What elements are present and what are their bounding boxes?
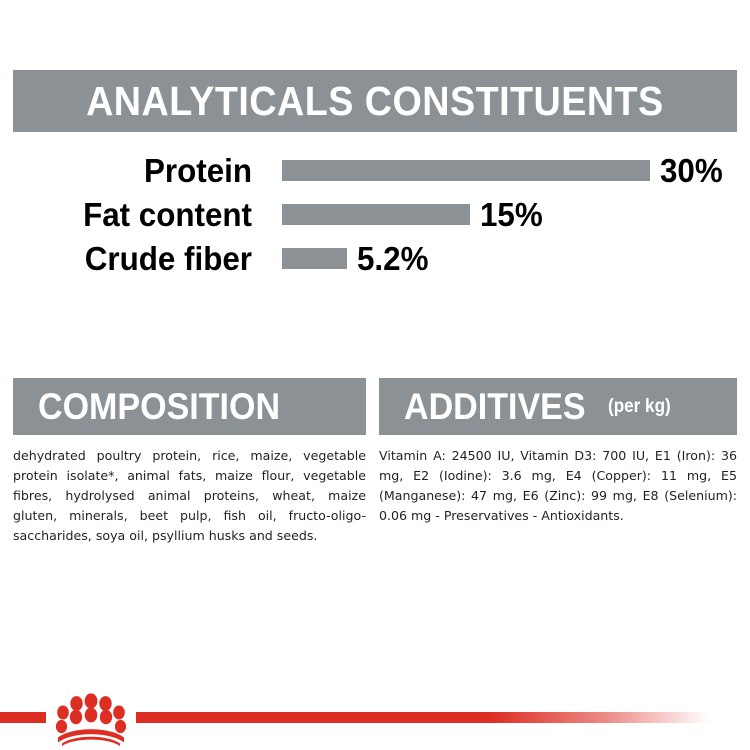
footer-rule-left	[0, 712, 46, 723]
banner-title: ANALYTICALS CONSTITUENTS	[86, 81, 664, 122]
chart-value-protein: 30%	[660, 154, 723, 187]
additives-header-unit: (per kg)	[608, 397, 671, 416]
composition-header-title: COMPOSITION	[38, 388, 280, 425]
composition-section: COMPOSITION dehydrated poultry protein, …	[13, 378, 366, 545]
chart-bar-group-protein: 30%	[282, 154, 726, 187]
chart-bar-fat-content	[282, 204, 470, 225]
chart-label-fat-content: Fat content	[13, 198, 252, 231]
composition-text: dehydrated poultry protein, rice, maize,…	[13, 446, 366, 545]
brand-footer	[0, 690, 750, 750]
chart-value-fat-content: 15%	[480, 198, 543, 231]
footer-rule-right	[136, 712, 710, 723]
chart-row-protein: Protein 30%	[0, 148, 750, 192]
chart-value-crude-fiber: 5.2%	[357, 242, 428, 275]
analytical-constituents-banner: ANALYTICALS CONSTITUENTS	[13, 70, 737, 132]
chart-row-crude-fiber: Crude fiber 5.2%	[0, 236, 750, 280]
additives-section: ADDITIVES (per kg) Vitamin A: 24500 IU, …	[379, 378, 737, 526]
nutrition-label-panel: ANALYTICALS CONSTITUENTS Protein 30% Fat…	[0, 0, 750, 750]
analytical-constituents-chart: Protein 30% Fat content 15% Crude fiber …	[0, 148, 750, 280]
chart-label-protein: Protein	[13, 154, 252, 187]
chart-row-fat-content: Fat content 15%	[0, 192, 750, 236]
crown-icon	[52, 690, 130, 746]
chart-bar-group-fat-content: 15%	[282, 198, 546, 231]
additives-header: ADDITIVES (per kg)	[379, 378, 737, 435]
chart-label-crude-fiber: Crude fiber	[13, 242, 252, 275]
additives-text: Vitamin A: 24500 IU, Vitamin D3: 700 IU,…	[379, 446, 737, 526]
additives-header-title: ADDITIVES	[404, 388, 586, 425]
chart-bar-crude-fiber	[282, 248, 347, 269]
composition-header: COMPOSITION	[13, 378, 366, 435]
chart-bar-protein	[282, 160, 650, 181]
chart-bar-group-crude-fiber: 5.2%	[282, 242, 432, 275]
